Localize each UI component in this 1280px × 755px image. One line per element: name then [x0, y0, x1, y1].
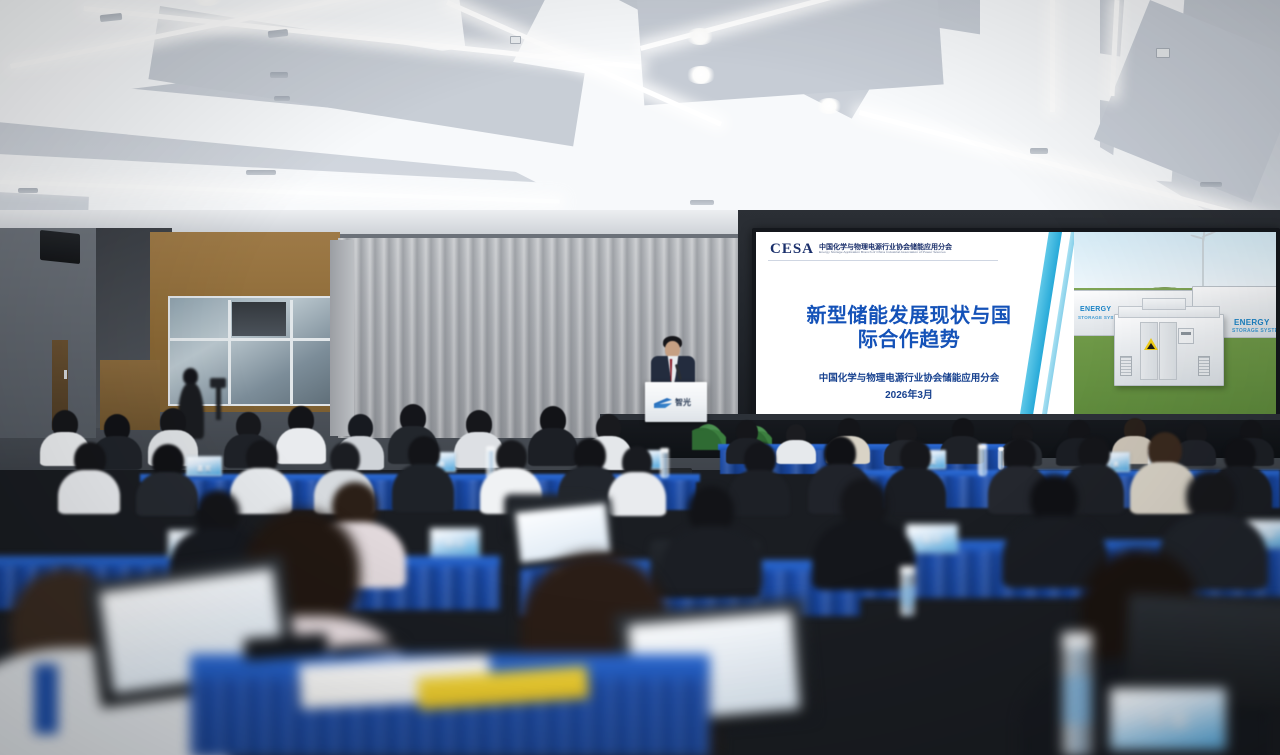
- window-curtain-right: [330, 240, 354, 436]
- camera-on-stand: [210, 378, 226, 388]
- ceiling: [0, 0, 1280, 232]
- led-screen-bezel: ENERGY STORAGE SYSTEM ENERGY STORAGE SYS…: [752, 228, 1280, 422]
- name-card: 参 会: [430, 528, 480, 556]
- ess-label-energy-right: ENERGY: [1234, 318, 1270, 327]
- lanyard: [34, 664, 58, 734]
- cesa-logo: CESA 中国化学与物理电源行业协会储能应用分会 Energy Storage …: [770, 242, 952, 257]
- slide-title-line1: 新型储能发展现状与国: [766, 304, 1052, 328]
- slide-title-line2: 际合作趋势: [766, 328, 1052, 352]
- name-card: 专 家: [1110, 688, 1226, 750]
- hazard-warning-icon: [1144, 338, 1158, 350]
- water-bottle: [978, 448, 987, 476]
- cesa-wordmark: CESA: [770, 242, 814, 257]
- slide-date: 2026年3月: [764, 389, 1054, 404]
- conference-hall-photo: ENERGY STORAGE SYSTEM ENERGY STORAGE SYS…: [0, 0, 1280, 755]
- wind-turbine: [1202, 238, 1204, 292]
- podium-logo-word: 智光: [675, 399, 691, 407]
- slide-photo-energy-storage: ENERGY STORAGE SYSTEM ENERGY STORAGE SYS…: [1074, 232, 1276, 418]
- ess-label-storage-right: STORAGE SYSTEM: [1232, 328, 1276, 334]
- podium-logo-icon: [654, 398, 672, 408]
- slide-subtitle: 中国化学与物理电源行业协会储能应用分会: [764, 372, 1054, 386]
- podium: 智光: [645, 382, 707, 422]
- presentation-slide: ENERGY STORAGE SYSTEM ENERGY STORAGE SYS…: [756, 232, 1276, 418]
- mic-stand: [216, 384, 221, 420]
- water-bottle: [660, 452, 669, 478]
- cesa-english-name: Energy Storage Application Branch of Chi…: [819, 252, 952, 255]
- name-card: 嘉 宾: [186, 456, 222, 476]
- ess-label-energy: ENERGY: [1080, 306, 1111, 313]
- ceiling-speaker: [40, 230, 80, 264]
